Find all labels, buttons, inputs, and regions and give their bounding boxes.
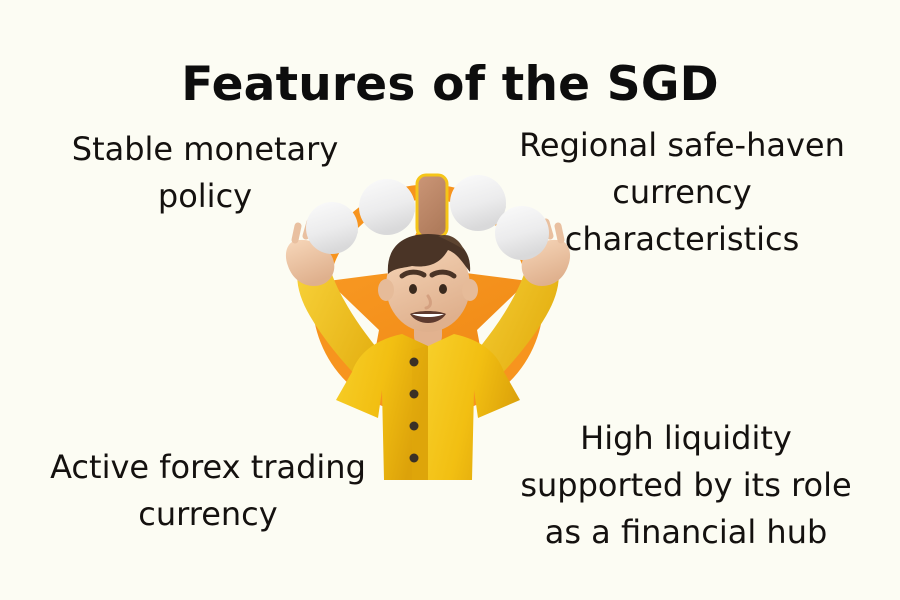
central-illustration <box>262 150 602 480</box>
left-eye <box>409 284 417 294</box>
jacket-button <box>410 390 419 399</box>
sphere-2 <box>359 179 415 235</box>
jacket-button <box>410 454 419 463</box>
sphere-4 <box>495 206 549 260</box>
slide-canvas: Features of the SGD Stable monetary poli… <box>0 0 900 600</box>
jacket-button <box>410 358 419 367</box>
jacket-button <box>410 422 419 431</box>
tablet-icon <box>417 175 447 237</box>
right-eye <box>439 284 447 294</box>
left-ear <box>378 279 394 301</box>
sphere-1 <box>306 202 358 254</box>
page-title: Features of the SGD <box>0 57 900 113</box>
right-ear <box>462 279 478 301</box>
illustration-svg <box>262 150 602 480</box>
